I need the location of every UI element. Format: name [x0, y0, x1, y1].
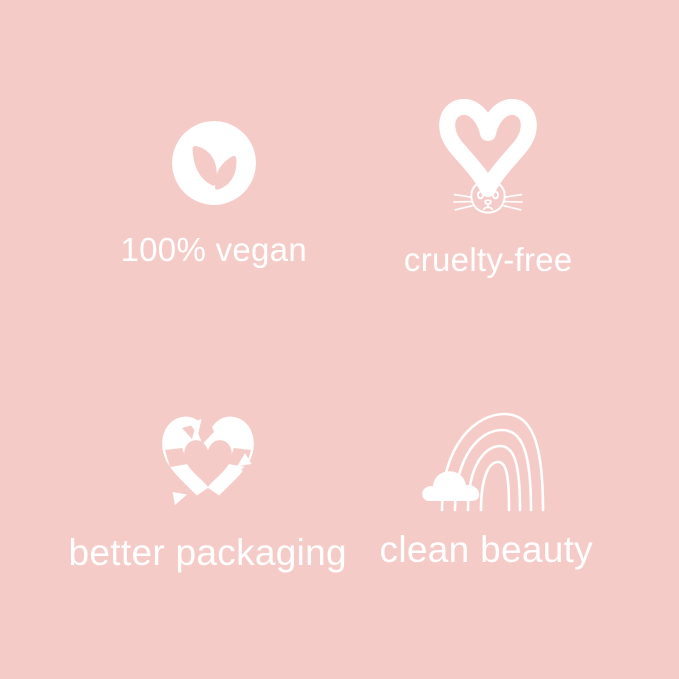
- badge-clean-beauty[interactable]: clean beauty: [380, 409, 593, 571]
- badge-grid: 100% vegan: [0, 0, 679, 679]
- badge-vegan[interactable]: 100% vegan: [121, 117, 307, 269]
- leaf-circle-icon: [168, 117, 260, 209]
- bunny-heart-ears-icon: [430, 97, 546, 219]
- badge-label-cruelty-free: cruelty-free: [404, 241, 573, 279]
- badge-label-vegan: 100% vegan: [121, 231, 307, 269]
- badge-cruelty-free[interactable]: cruelty-free: [404, 97, 573, 279]
- badge-better-packaging[interactable]: better packaging: [69, 410, 347, 574]
- badge-label-better-packaging: better packaging: [69, 532, 347, 574]
- rainbow-cloud-icon: [421, 409, 551, 513]
- badge-label-clean-beauty: clean beauty: [380, 529, 593, 571]
- brand-values-panel: 100% vegan: [0, 0, 679, 679]
- recycle-heart-icon: [156, 410, 260, 512]
